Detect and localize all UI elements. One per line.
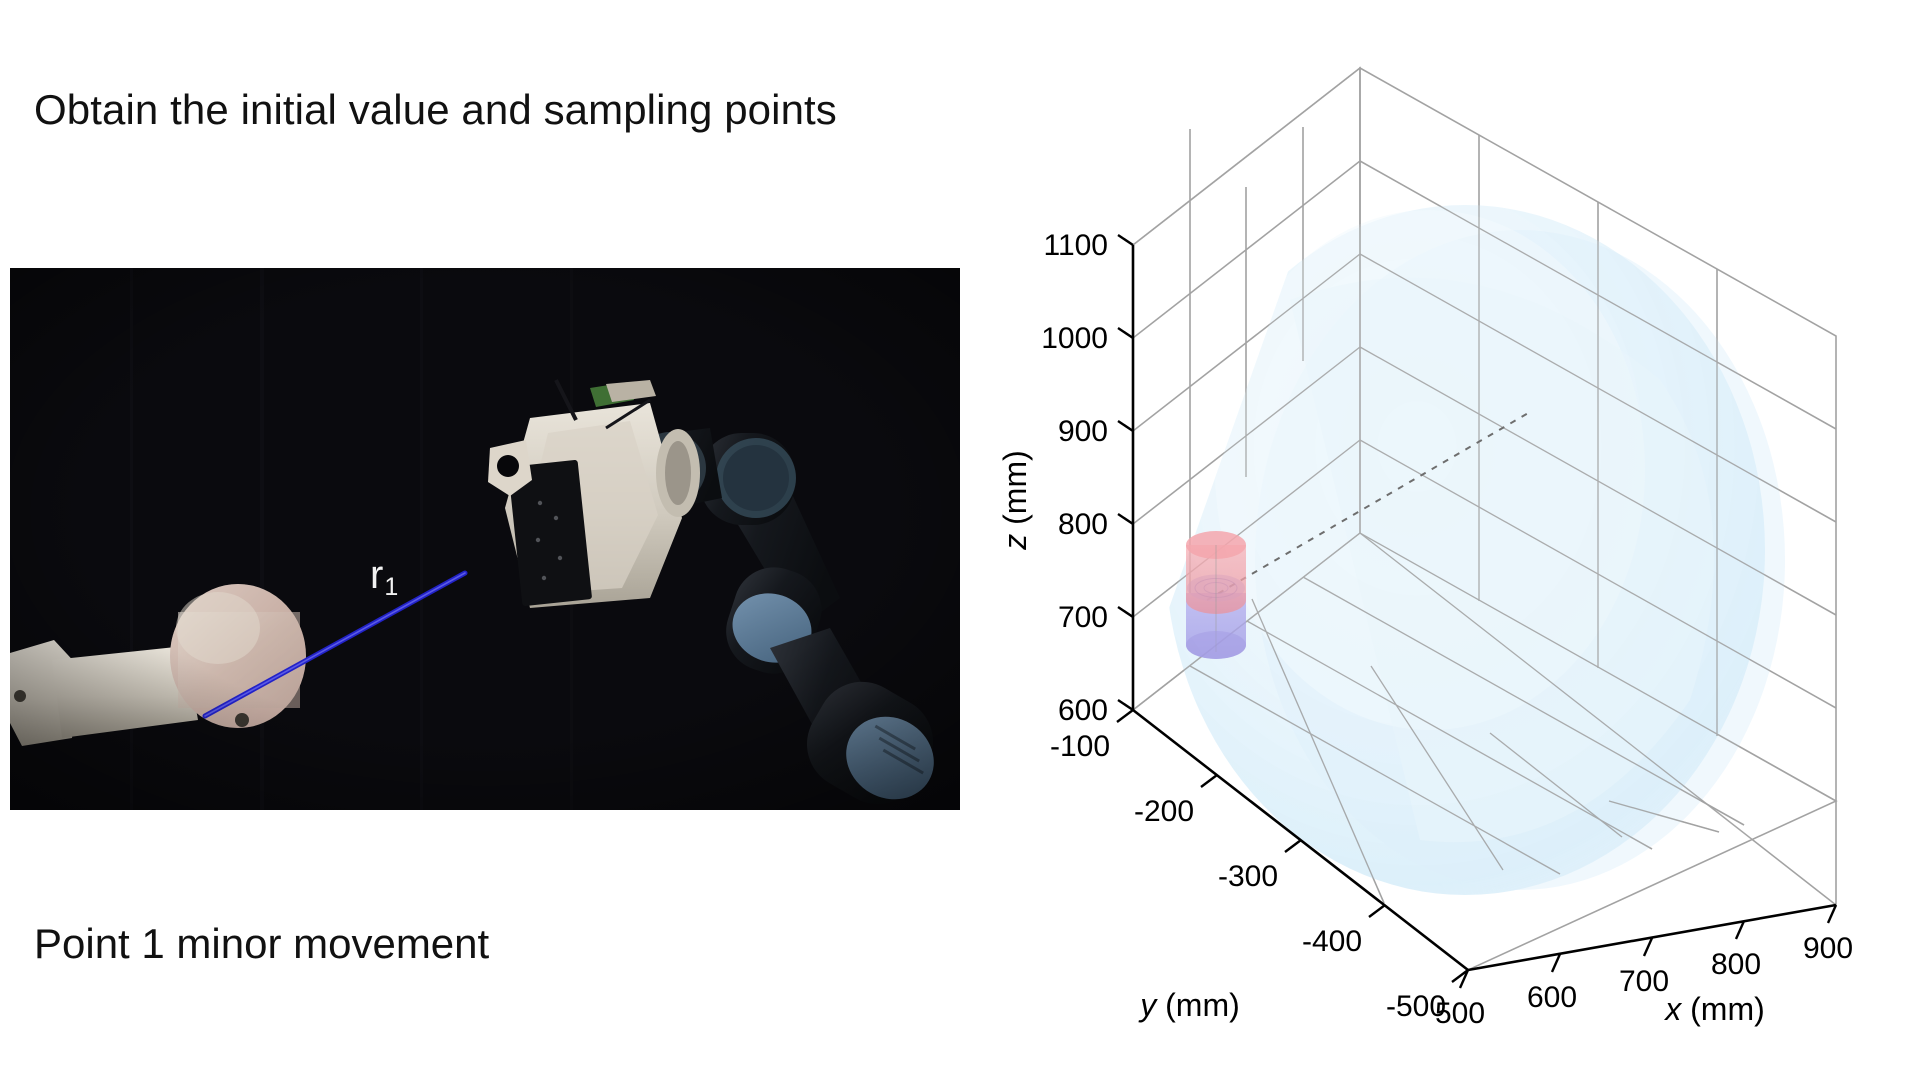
x-tick-label: 500 (1435, 997, 1485, 1030)
plot-canvas: 600 700 800 900 1000 1100 z (mm) -100 -2… (960, 0, 1920, 1080)
x-axis-title: x (mm) (1663, 991, 1765, 1027)
photo-vignette (10, 268, 962, 810)
page-title: Obtain the initial value and sampling po… (34, 86, 837, 134)
x-tick-label: 900 (1803, 932, 1853, 965)
z-tick-label: 900 (1058, 415, 1108, 448)
y-tick-label: -200 (1134, 795, 1194, 828)
z-tick-label: 800 (1058, 508, 1108, 541)
slide-caption: Point 1 minor movement (34, 920, 489, 968)
workspace-3d-plot: 600 700 800 900 1000 1100 z (mm) -100 -2… (960, 0, 1920, 1080)
x-tick-label: 800 (1711, 948, 1761, 981)
z-tick-label: 1100 (1043, 229, 1108, 262)
y-axis-title: y (mm) (1138, 987, 1240, 1023)
z-tick-label: 600 (1058, 694, 1108, 727)
robot-arm-photograph (10, 268, 962, 810)
z-tick-label: 700 (1058, 601, 1108, 634)
y-tick-label: -300 (1218, 860, 1278, 893)
cylinder-bottom-cap (1186, 631, 1246, 659)
z-axis-title: z (mm) (997, 450, 1033, 551)
photo-canvas (10, 268, 962, 810)
x-tick-label: 700 (1619, 965, 1669, 998)
sampling-cylinder (1186, 531, 1246, 659)
y-tick-label: -400 (1302, 925, 1362, 958)
y-tick-label: -100 (1050, 730, 1110, 763)
z-tick-label: 1000 (1041, 322, 1108, 355)
x-tick-label: 600 (1527, 981, 1577, 1014)
